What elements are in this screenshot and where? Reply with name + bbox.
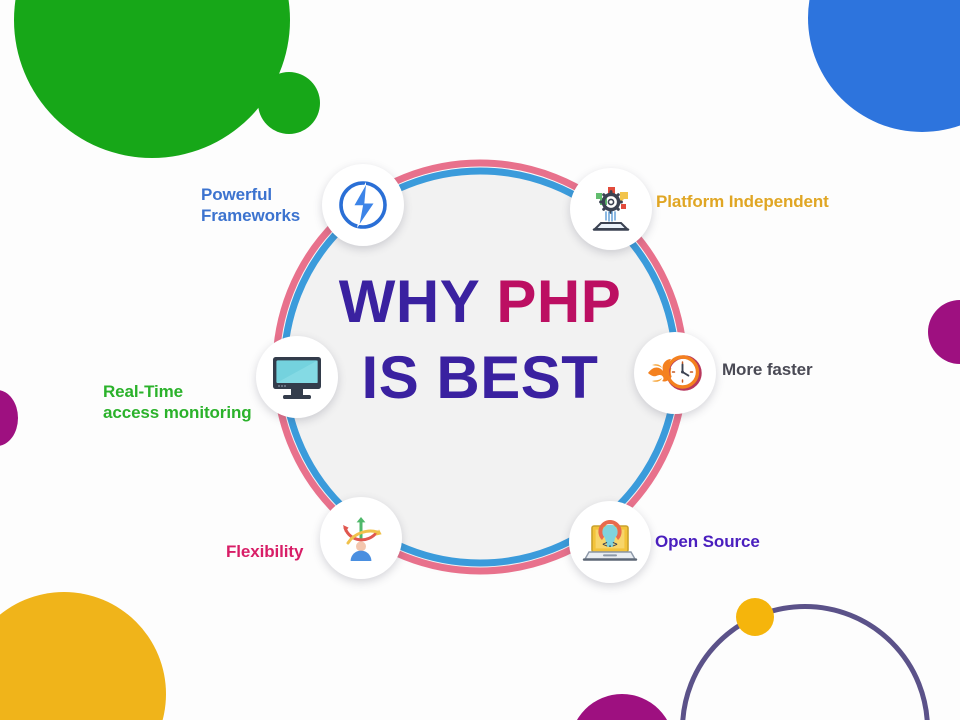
feature-label-real-time-access-monitoring: Real-Time access monitoring [103,382,252,423]
gear-laptop-icon [583,181,639,237]
feature-icon-flexibility[interactable] [320,497,402,579]
decor-circle-green-large [14,0,290,158]
decor-circle-green-small [258,72,320,134]
decor-ring-purple [680,604,930,720]
decor-circle-yellow-bottom-left [0,592,166,720]
feature-icon-real-time-access-monitoring[interactable] [256,336,338,418]
decor-circle-magenta-bottom [570,694,674,720]
feature-icon-more-faster[interactable] [634,332,716,414]
infographic-canvas: WHY PHP IS BEST [0,0,960,720]
decor-circle-magenta-left [0,390,18,446]
feature-label-flexibility: Flexibility [226,542,303,563]
feature-label-more-faster: More faster [722,360,813,381]
title-word-php: PHP [496,268,621,335]
title-word-why: WHY [339,268,479,335]
feature-label-open-source: Open Source [655,532,760,553]
desktop-monitor-icon [269,351,325,403]
feature-label-powerful-frameworks: Powerful Frameworks [201,185,300,226]
svg-text:<.>: <.> [602,539,617,549]
decor-circle-magenta-right [928,300,960,364]
title-word-is-best: IS BEST [362,344,599,411]
flaming-clock-icon [646,351,704,395]
page-title: WHY PHP IS BEST [300,272,660,408]
feature-icon-platform-independent[interactable] [570,168,652,250]
feature-label-platform-independent: Platform Independent [656,192,829,213]
open-source-laptop-icon: <.> [581,516,639,568]
decor-circle-blue-large [808,0,960,132]
feature-icon-powerful-frameworks[interactable] [322,164,404,246]
decor-dot-orange [736,598,774,636]
lightning-bolt-icon [336,178,390,232]
feature-icon-open-source[interactable]: <.> [569,501,651,583]
person-arrows-icon [334,511,388,565]
